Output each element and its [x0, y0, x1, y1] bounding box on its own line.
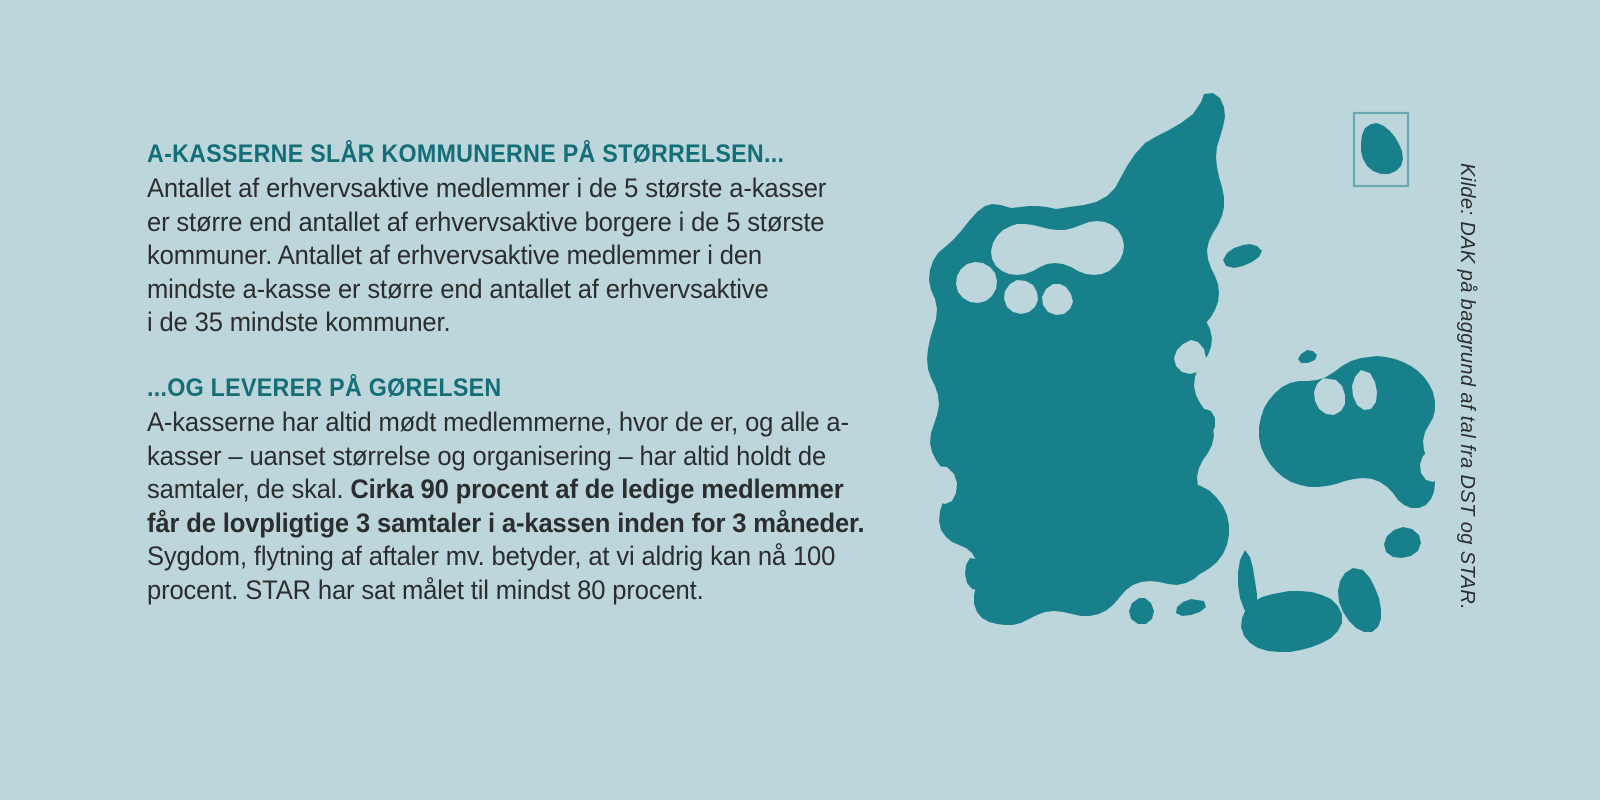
- map-island-bornholm: [1361, 123, 1403, 174]
- map-region-funen: [1130, 482, 1229, 578]
- body-storrelsen: Antallet af erhvervsaktive medlemmer i d…: [147, 172, 880, 340]
- body-line: i de 35 mindste kommuner.: [147, 307, 450, 337]
- map-island-mon: [1384, 527, 1421, 558]
- map-islet-anholt: [1298, 350, 1317, 363]
- body-line: kommuner. Antallet af erhvervsaktive med…: [147, 240, 762, 270]
- denmark-map: [893, 78, 1473, 708]
- map-water-inlet-a: [956, 262, 997, 303]
- map-island-laeso: [1223, 244, 1262, 268]
- map-island-aero: [1176, 599, 1206, 616]
- text-section-storrelsen: A-KASSERNE SLÅR KOMMUNERNE PÅ STØRRELSEN…: [147, 139, 907, 340]
- body-line: er større end antallet af erhvervsaktive…: [147, 207, 824, 237]
- body-text-tail: Sygdom, flytning af aftaler mv. betyder,…: [147, 541, 835, 605]
- text-section-gorelsen: ...OG LEVERER PÅ GØRELSEN A-kasserne har…: [147, 373, 907, 607]
- heading-storrelsen: A-KASSERNE SLÅR KOMMUNERNE PÅ STØRRELSEN…: [147, 139, 854, 169]
- infographic-canvas: A-KASSERNE SLÅR KOMMUNERNE PÅ STØRRELSEN…: [0, 0, 1600, 800]
- body-line: mindste a-kasse er større end antallet a…: [147, 274, 769, 304]
- heading-gorelsen: ...OG LEVERER PÅ GØRELSEN: [147, 373, 854, 403]
- body-gorelsen: A-kasserne har altid mødt medlemmerne, h…: [147, 406, 880, 607]
- map-region-zealand: [1259, 356, 1435, 508]
- map-island-als: [1129, 598, 1154, 624]
- map-island-falster: [1338, 568, 1381, 632]
- body-line: Antallet af erhvervsaktive medlemmer i d…: [147, 173, 826, 203]
